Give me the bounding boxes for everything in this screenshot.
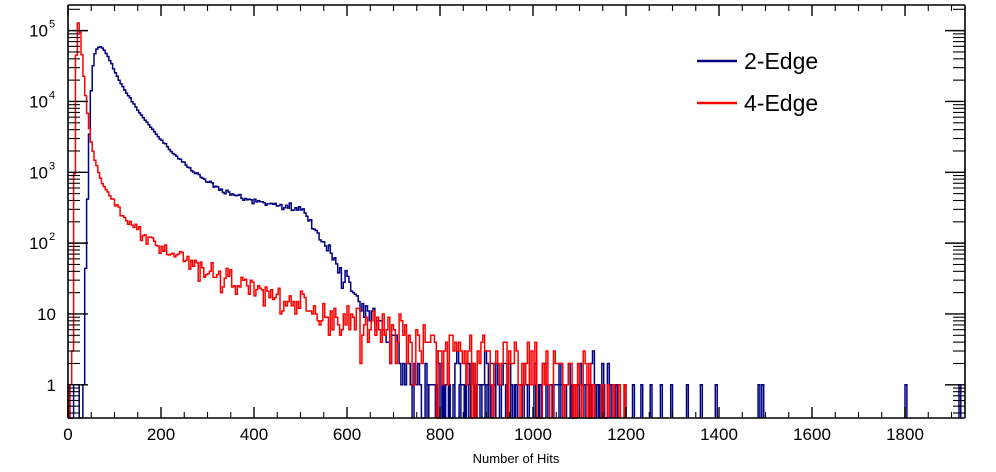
svg-text:10: 10 bbox=[29, 22, 48, 41]
x-tick-label: 0 bbox=[63, 425, 72, 444]
x-tick-label: 1400 bbox=[700, 425, 738, 444]
legend-label-2-edge: 2-Edge bbox=[744, 48, 818, 74]
y-tick-label: 1 bbox=[47, 376, 56, 395]
x-axis-title: Number of Hits bbox=[473, 451, 560, 466]
x-tick-label: 1000 bbox=[514, 425, 552, 444]
x-tick-label: 1600 bbox=[793, 425, 831, 444]
svg-text:4: 4 bbox=[49, 89, 55, 101]
x-tick-label: 600 bbox=[333, 425, 361, 444]
chart-root: 0200400600800100012001400160018001101021… bbox=[0, 0, 996, 472]
x-tick-label: 1800 bbox=[886, 425, 924, 444]
svg-text:3: 3 bbox=[49, 160, 55, 172]
svg-text:5: 5 bbox=[49, 19, 55, 31]
x-tick-label: 800 bbox=[426, 425, 454, 444]
x-tick-label: 1200 bbox=[607, 425, 645, 444]
x-tick-label: 200 bbox=[147, 425, 175, 444]
svg-text:10: 10 bbox=[29, 163, 48, 182]
legend-label-4-edge: 4-Edge bbox=[744, 90, 818, 116]
x-tick-label: 400 bbox=[240, 425, 268, 444]
histogram-plot: 0200400600800100012001400160018001101021… bbox=[0, 0, 996, 472]
svg-text:10: 10 bbox=[29, 92, 48, 111]
svg-text:10: 10 bbox=[37, 305, 56, 324]
svg-text:10: 10 bbox=[29, 234, 48, 253]
y-tick-label: 10 bbox=[37, 305, 56, 324]
svg-text:2: 2 bbox=[49, 231, 55, 243]
plot-background bbox=[0, 0, 996, 472]
svg-text:1: 1 bbox=[47, 376, 56, 395]
